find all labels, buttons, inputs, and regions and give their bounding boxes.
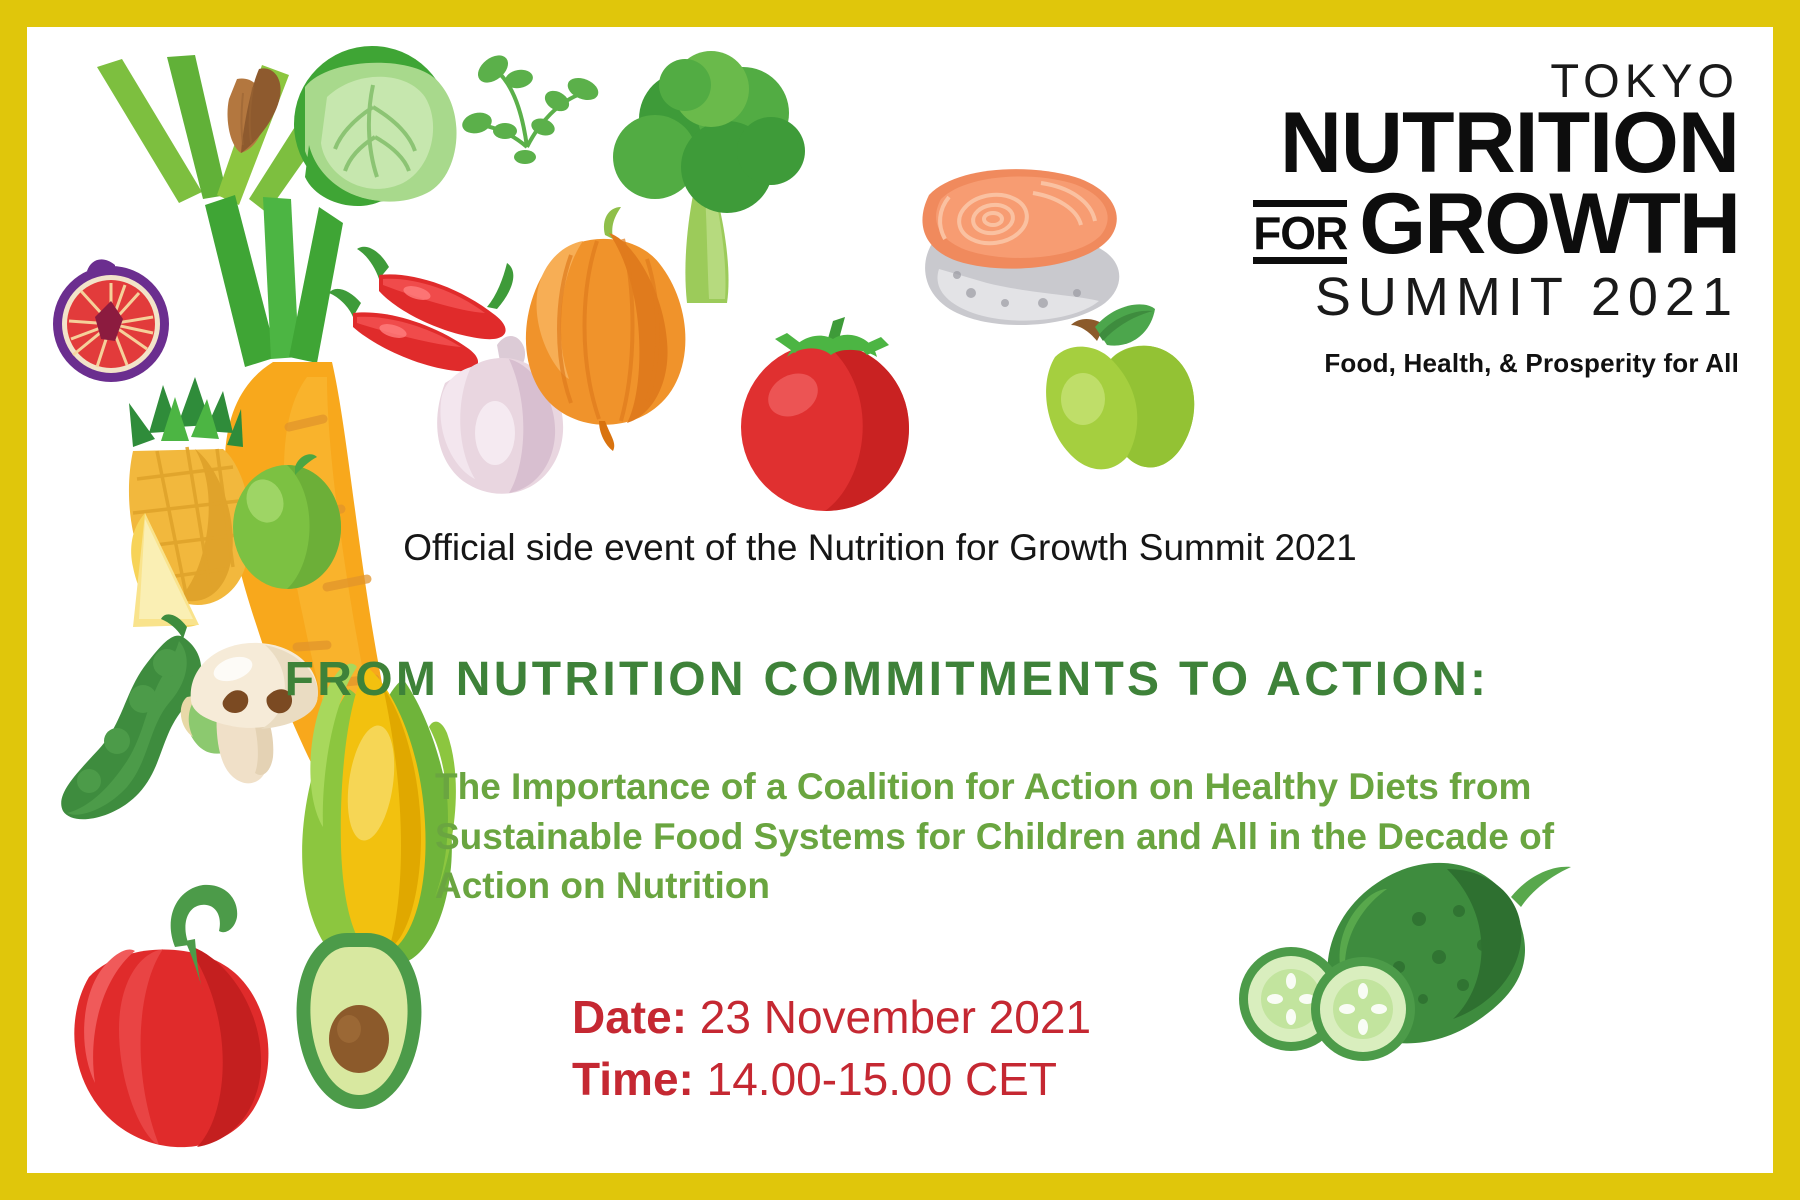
red-bell-pepper-icon	[74, 885, 268, 1147]
event-details: Date: 23 November 2021 Time: 14.00-15.00…	[572, 987, 1091, 1110]
almond-icon	[228, 68, 281, 153]
time-label: Time:	[572, 1053, 694, 1105]
event-date-row: Date: 23 November 2021	[572, 987, 1091, 1049]
logo-word-growth: GROWTH	[1359, 185, 1739, 264]
event-subtitle: The Importance of a Coalition for Action…	[435, 762, 1675, 911]
salmon-steak-icon	[922, 169, 1119, 325]
event-time-row: Time: 14.00-15.00 CET	[572, 1049, 1091, 1111]
cucumber-slice	[1311, 957, 1415, 1061]
fig-half-icon	[53, 259, 169, 382]
tomato-icon	[741, 317, 909, 511]
avocado-icon	[297, 933, 422, 1109]
cabbage-icon	[294, 46, 457, 206]
logo-tagline: Food, Health, & Prosperity for All	[1219, 348, 1739, 379]
official-side-event-line: Official side event of the Nutrition for…	[27, 527, 1733, 569]
spring-onion-icon	[97, 55, 343, 213]
garlic-icon	[437, 336, 563, 494]
flyer-canvas: TOKYO NUTRITION FOR GROWTH SUMMIT 2021 F…	[27, 27, 1773, 1173]
cilantro-icon	[460, 50, 602, 164]
cucumber-slice	[1239, 947, 1343, 1051]
logo-line-for-growth: FOR GROWTH	[1219, 185, 1739, 264]
time-value: 14.00-15.00 CET	[694, 1053, 1057, 1105]
logo-word-for: FOR	[1253, 200, 1347, 264]
logo-line-nutrition: NUTRITION	[1219, 104, 1739, 183]
pineapple-icon	[129, 377, 251, 627]
broccoli-icon	[613, 51, 805, 303]
date-label: Date:	[572, 991, 687, 1043]
corn-icon	[302, 664, 456, 998]
event-headline: FROM NUTRITION COMMITMENTS TO ACTION:	[27, 652, 1747, 707]
date-value: 23 November 2021	[687, 991, 1091, 1043]
tnfg-summit-logo: TOKYO NUTRITION FOR GROWTH SUMMIT 2021 F…	[1219, 57, 1739, 379]
green-apple-icon	[1046, 304, 1194, 469]
onion-icon	[526, 207, 686, 451]
logo-line-summit-2021: SUMMIT 2021	[1219, 268, 1739, 327]
chili-peppers-icon	[329, 247, 513, 371]
green-bean-icon	[61, 614, 243, 819]
